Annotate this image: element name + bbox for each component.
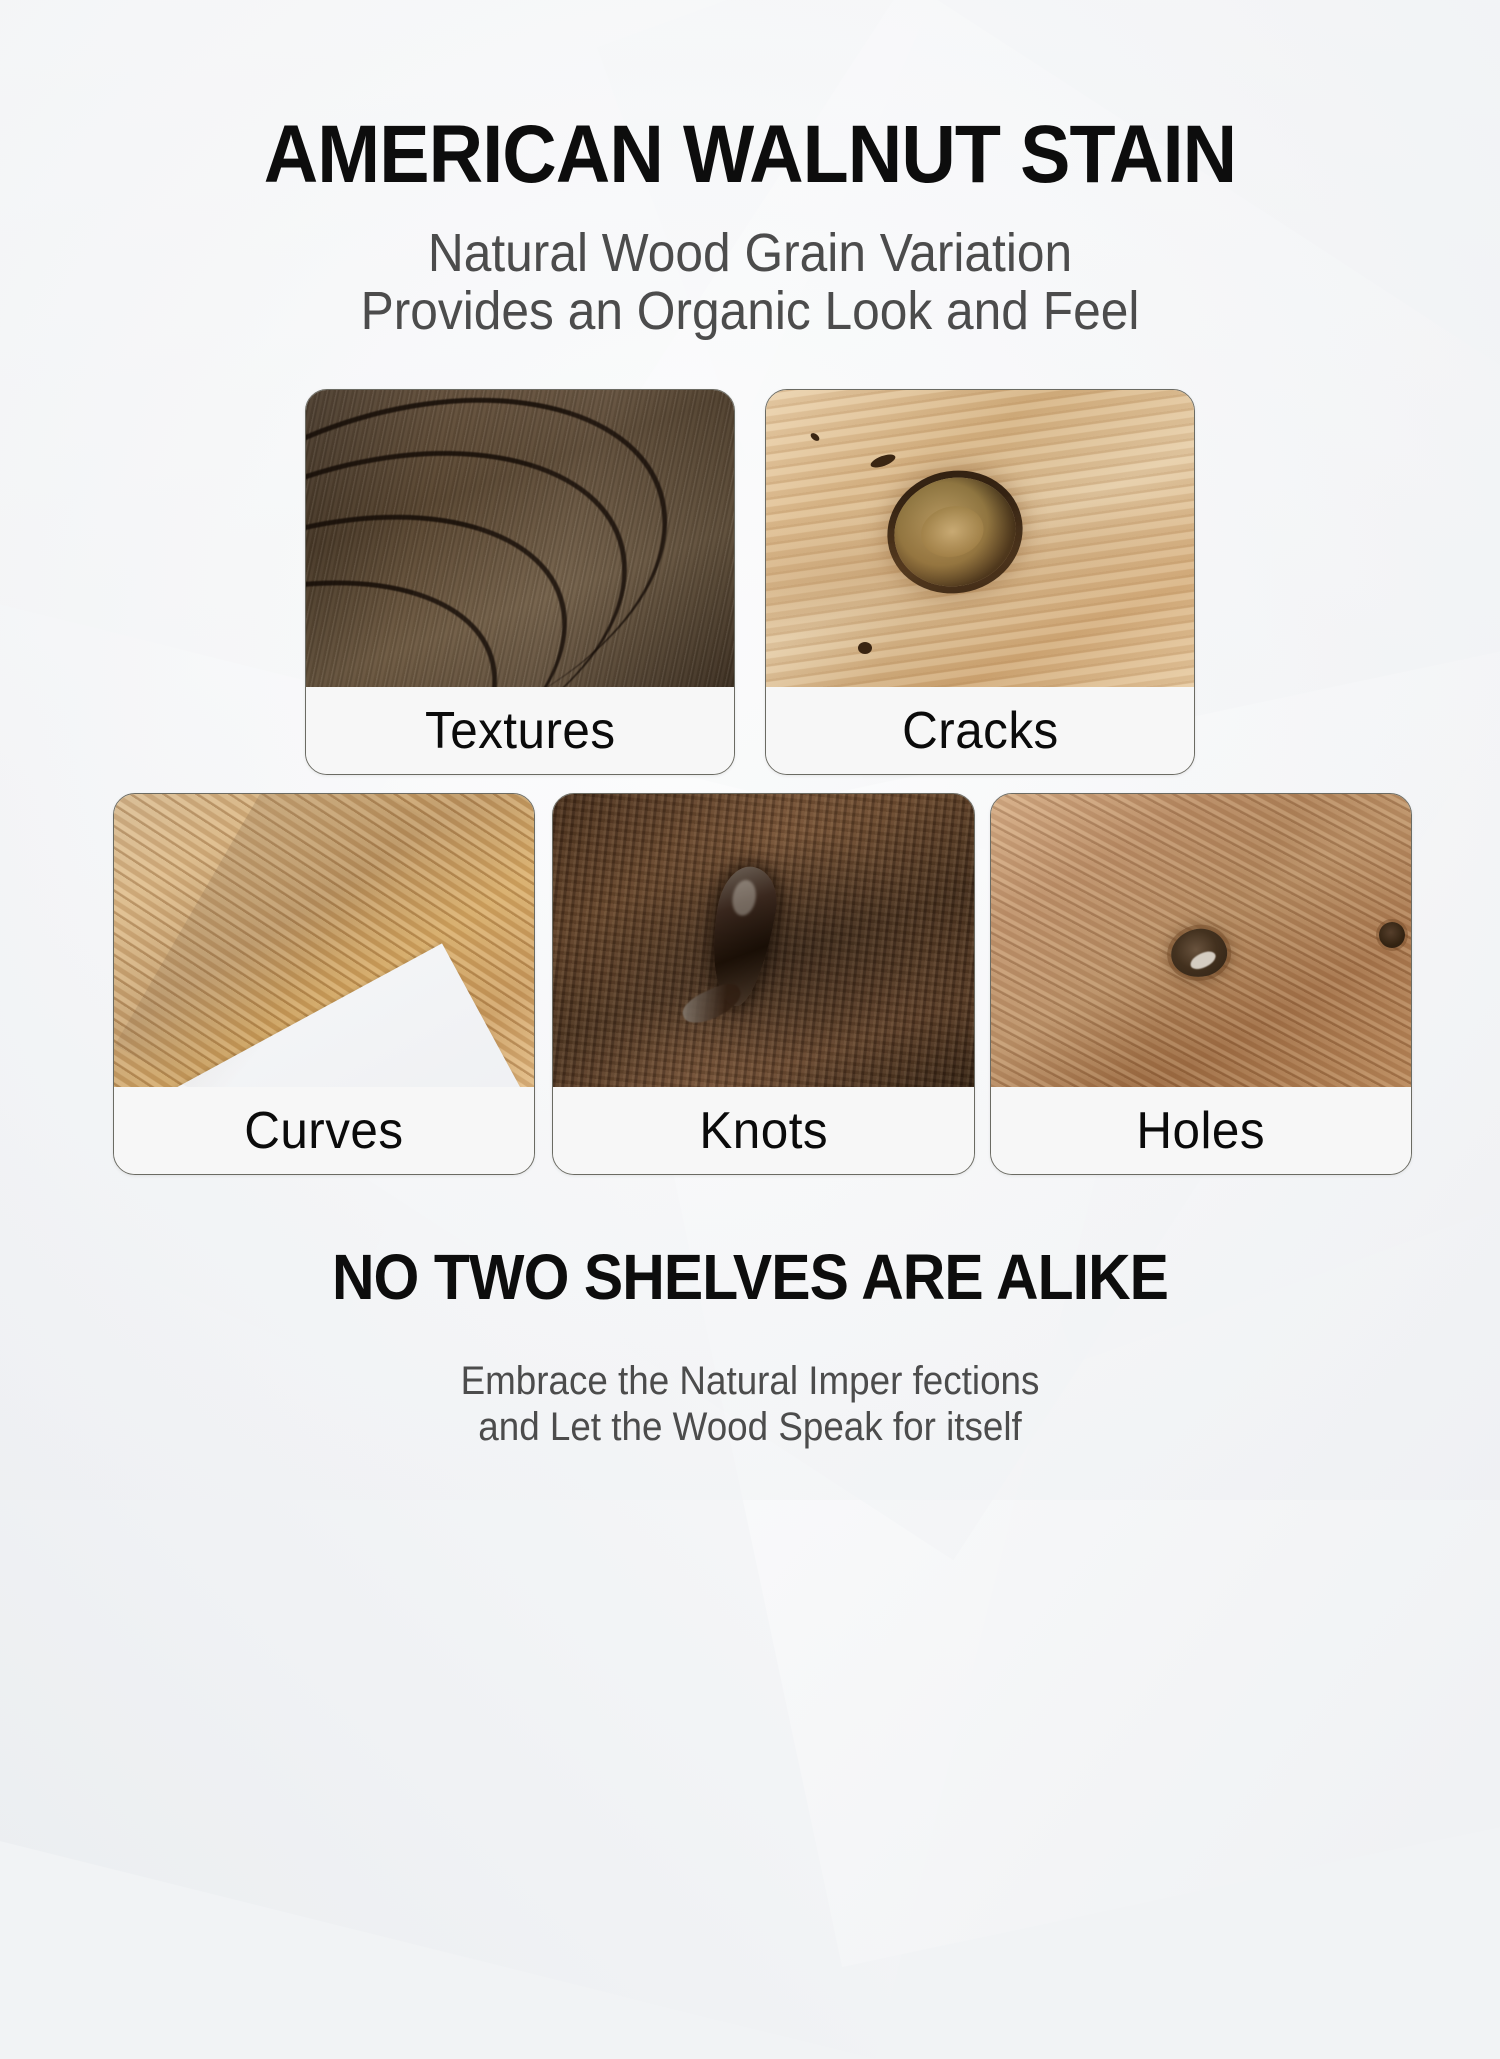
page-title: AMERICAN WALNUT STAIN xyxy=(60,112,1440,198)
wood-hole-shape xyxy=(1167,924,1232,983)
oval-knot-shape xyxy=(883,465,1028,599)
pale-wood-knot-image xyxy=(766,390,1194,687)
footer-subtitle: Embrace the Natural Imper fections and L… xyxy=(60,1358,1440,1450)
feature-card-knots[interactable]: Knots xyxy=(552,793,975,1175)
knots-caption: Knots xyxy=(553,1087,974,1174)
plank-diagonal-edge xyxy=(114,944,534,1087)
oak-plank-edge-image xyxy=(114,794,534,1087)
footer-subtitle-line-2: and Let the Wood Speak for itself xyxy=(60,1404,1440,1450)
page-subtitle: Natural Wood Grain Variation Provides an… xyxy=(60,224,1440,340)
warm-wood-hole-image xyxy=(991,794,1411,1087)
feature-card-cracks[interactable]: Cracks xyxy=(765,389,1195,775)
holes-caption: Holes xyxy=(991,1087,1411,1174)
wood-hole-secondary-shape xyxy=(1379,922,1405,948)
page-subtitle-line-1: Natural Wood Grain Variation xyxy=(60,224,1440,282)
feature-card-holes[interactable]: Holes xyxy=(990,793,1412,1175)
feature-card-curves[interactable]: Curves xyxy=(113,793,535,1175)
page-subtitle-line-2: Provides an Organic Look and Feel xyxy=(60,282,1440,340)
cracks-label: Cracks xyxy=(902,701,1059,761)
textures-label: Textures xyxy=(425,701,616,761)
knots-photo xyxy=(553,794,974,1087)
curves-label: Curves xyxy=(244,1101,403,1161)
knots-label: Knots xyxy=(699,1101,828,1161)
cracks-caption: Cracks xyxy=(766,687,1194,774)
knot-tail-shape xyxy=(678,979,746,1030)
curves-photo xyxy=(114,794,534,1087)
cracks-photo xyxy=(766,390,1194,687)
footer-subtitle-line-1: Embrace the Natural Imper fections xyxy=(60,1358,1440,1404)
knot-shape xyxy=(701,862,782,1010)
textures-caption: Textures xyxy=(306,687,734,774)
holes-photo xyxy=(991,794,1411,1087)
holes-label: Holes xyxy=(1137,1101,1266,1161)
footer-title: NO TWO SHELVES ARE ALIKE xyxy=(60,1243,1440,1311)
feature-card-textures[interactable]: Textures xyxy=(305,389,735,775)
dark-walnut-knot-image xyxy=(553,794,974,1087)
curves-caption: Curves xyxy=(114,1087,534,1174)
textures-photo xyxy=(306,390,734,687)
dark-walnut-texture-image xyxy=(306,390,734,687)
